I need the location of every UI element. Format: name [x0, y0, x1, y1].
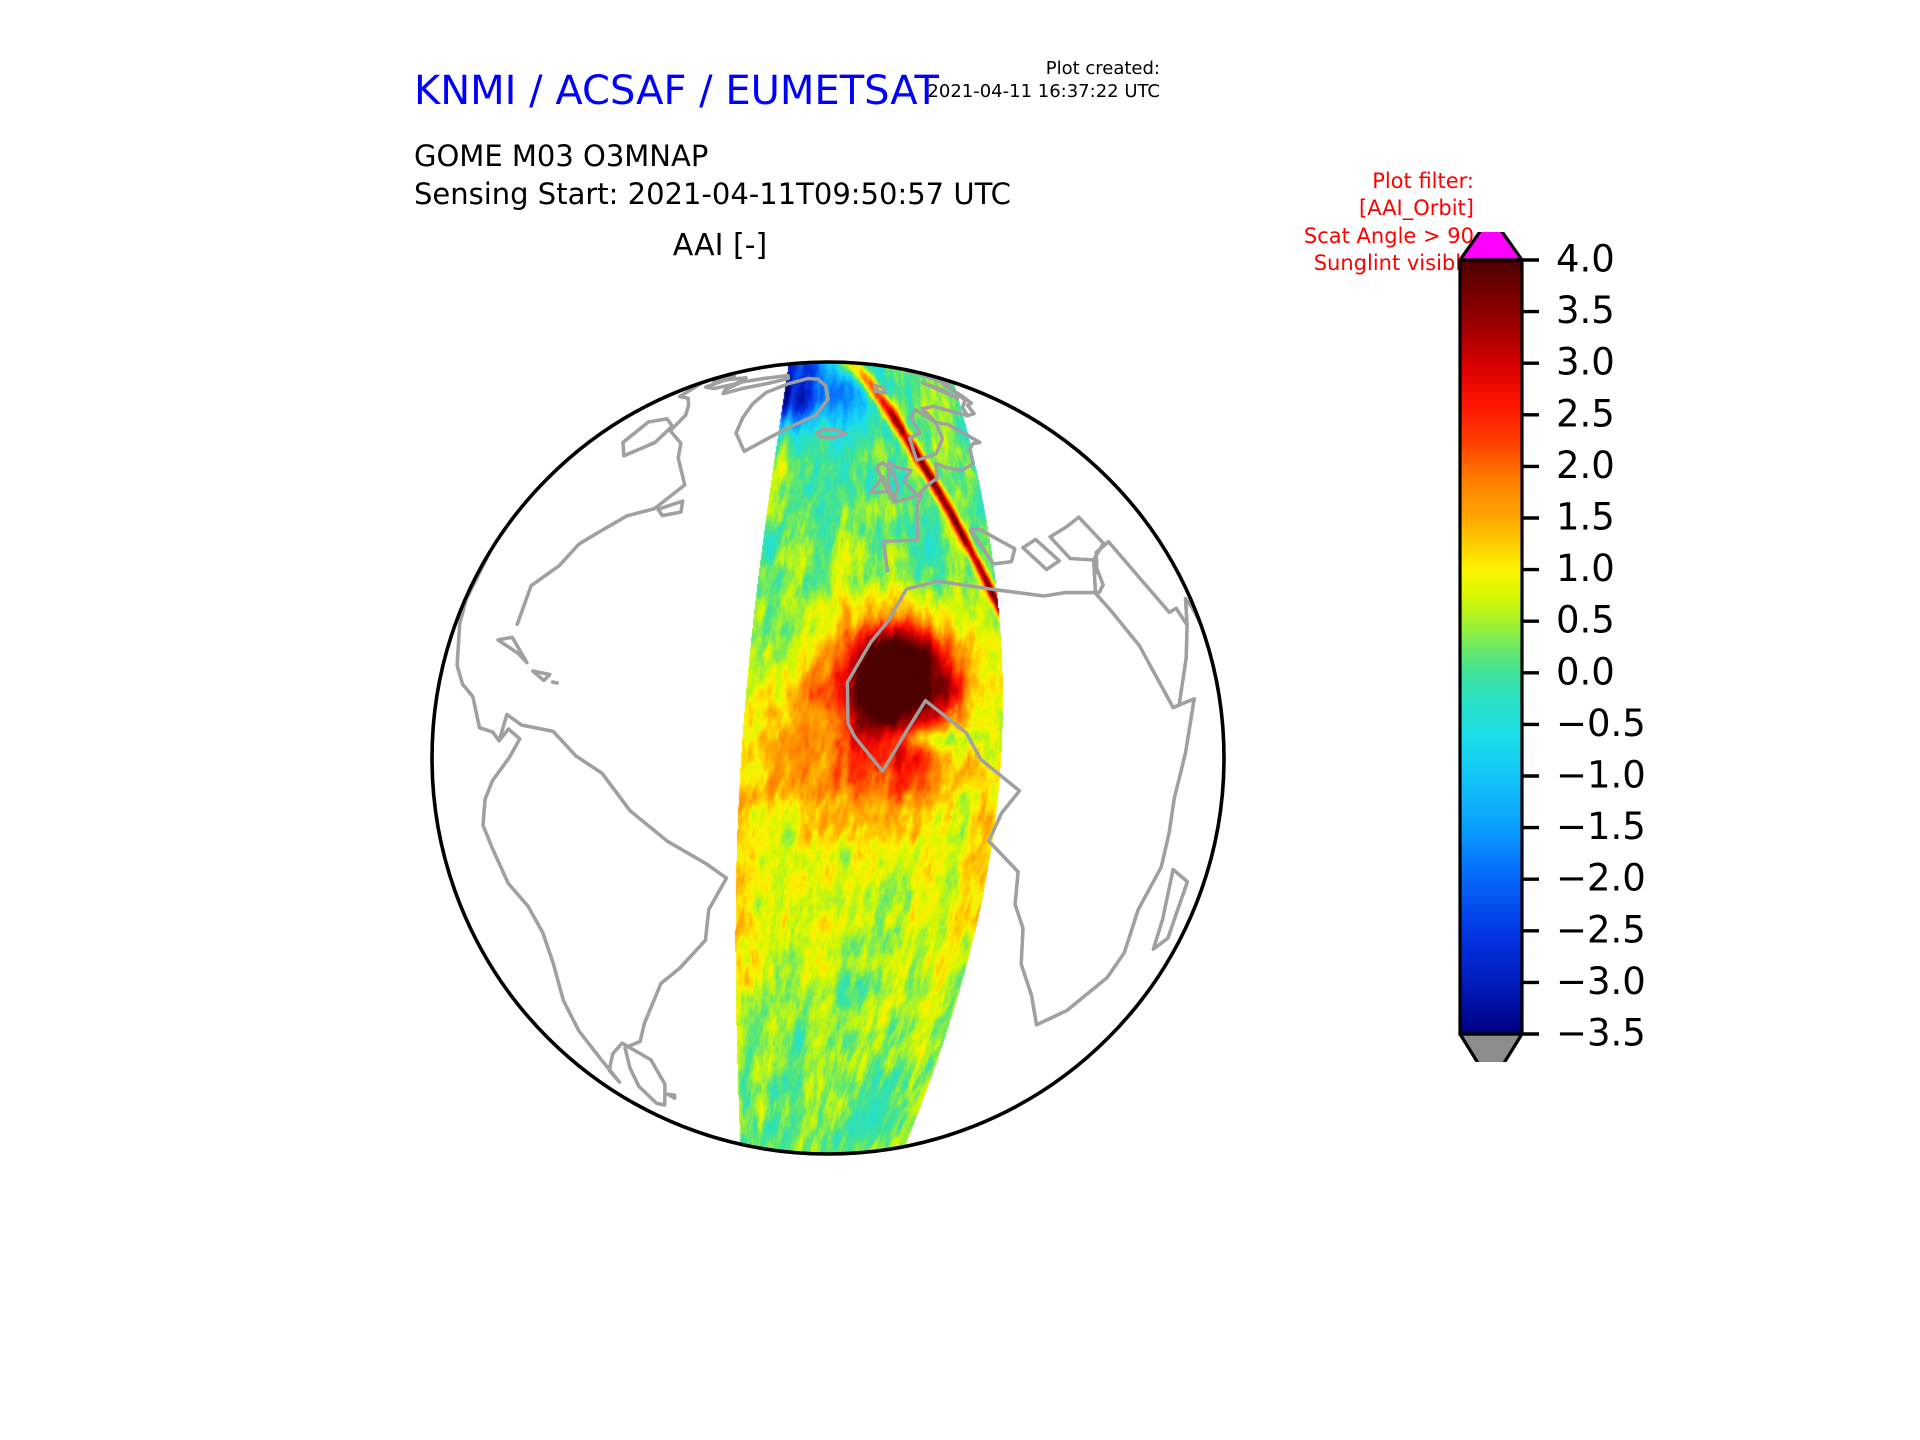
colorbar-tick-label: −2.0 — [1556, 857, 1646, 900]
map-panel — [396, 230, 1260, 1290]
colorbar-tick-label: −2.5 — [1556, 908, 1646, 951]
globe-map — [396, 230, 1260, 1290]
sensing-start-line: Sensing Start: 2021-04-11T09:50:57 UTC — [414, 176, 1011, 214]
colorbar: 4.03.53.02.52.01.51.00.50.0−0.5−1.0−1.5−… — [1440, 232, 1740, 1062]
plot-filter-product: [AAI_Orbit] — [1174, 195, 1474, 222]
plot-root: KNMI / ACSAF / EUMETSAT Plot created: 20… — [0, 0, 1920, 1440]
colorbar-tick-label: 1.0 — [1556, 547, 1615, 590]
colorbar-tick-label: 3.0 — [1556, 341, 1615, 384]
colorbar-tick-label: −3.5 — [1556, 1012, 1646, 1055]
instrument-line: GOME M03 O3MNAP — [414, 138, 1011, 176]
colorbar-tick-label: 3.5 — [1556, 289, 1615, 332]
colorbar-panel: 4.03.53.02.52.01.51.00.50.0−0.5−1.0−1.5−… — [1440, 232, 1740, 1062]
colorbar-over-arrow — [1460, 232, 1522, 260]
granule-meta-block: GOME M03 O3MNAP Sensing Start: 2021-04-1… — [414, 138, 1011, 213]
colorbar-tick-label: 0.5 — [1556, 599, 1615, 642]
colorbar-tick-label: −0.5 — [1556, 702, 1646, 745]
swath-raster — [396, 230, 1260, 1290]
colorbar-tick-label: 4.0 — [1556, 238, 1615, 281]
colorbar-gradient — [1460, 260, 1522, 1034]
plot-created-value: 2021-04-11 16:37:22 UTC — [860, 80, 1160, 103]
plot-created-block: Plot created: 2021-04-11 16:37:22 UTC — [860, 57, 1160, 103]
swath-data-layer — [396, 230, 1260, 1290]
colorbar-under-arrow — [1460, 1034, 1522, 1062]
plot-filter-label: Plot filter: — [1174, 168, 1474, 195]
colorbar-tick-label: 2.0 — [1556, 444, 1615, 487]
coastline-path — [553, 682, 558, 683]
colorbar-tick-label: −1.0 — [1556, 754, 1646, 797]
colorbar-ticks: 4.03.53.02.52.01.51.00.50.0−0.5−1.0−1.5−… — [1522, 238, 1646, 1055]
colorbar-tick-label: −1.5 — [1556, 805, 1646, 848]
plot-created-label: Plot created: — [860, 57, 1160, 80]
colorbar-tick-label: 0.0 — [1556, 650, 1615, 693]
colorbar-tick-label: −3.0 — [1556, 960, 1646, 1003]
colorbar-tick-label: 2.5 — [1556, 392, 1615, 435]
colorbar-tick-label: 1.5 — [1556, 496, 1615, 539]
